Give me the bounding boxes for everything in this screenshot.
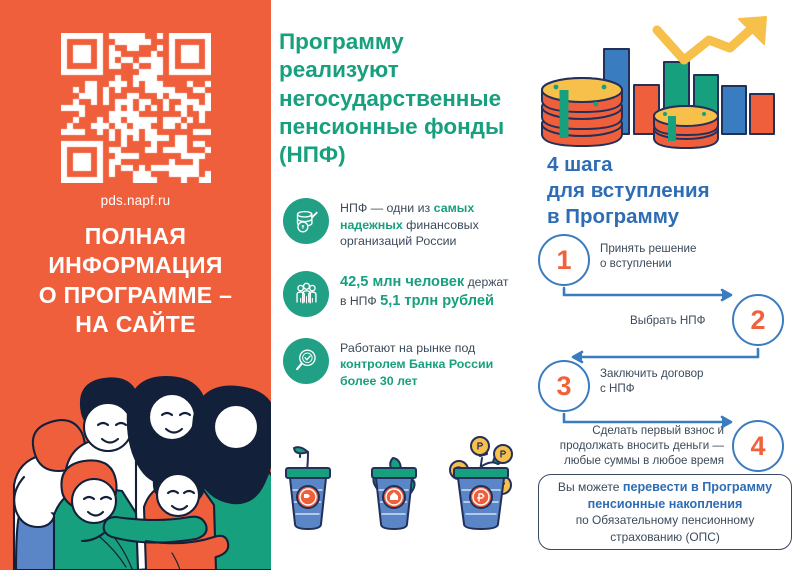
- step-label-2: Выбрать НПФ: [630, 314, 705, 329]
- note-plain: Вы можете: [558, 480, 623, 494]
- three-growing-money-plants-in-pots: [282, 398, 532, 563]
- magnifier-check-icon: [283, 338, 329, 384]
- step-number-4[interactable]: 4: [732, 420, 784, 472]
- middle-heading-line-1: Программу: [279, 28, 529, 56]
- step-label-4-line-3: любые суммы в любое время: [546, 454, 724, 469]
- step-label-1-line-1: Принять решение: [600, 242, 696, 257]
- step-label-4-line-2: продолжать вносить деньги —: [546, 439, 724, 454]
- chart-bar-6: [750, 94, 774, 134]
- fact-item-supervision: Работают на рынке под контролем Банка Ро…: [283, 338, 533, 390]
- pot-sprout: [372, 458, 416, 529]
- transfer-note-box: Вы можете перевести в Программу пенсионн…: [538, 474, 792, 550]
- qr-code[interactable]: [61, 33, 211, 183]
- fact-bold-supervision: контролем Банка России более 30 лет: [340, 357, 493, 388]
- pot-money-tree: [450, 437, 512, 529]
- coin-stack-left: [542, 78, 622, 146]
- site-url[interactable]: pds.napf.ru: [0, 193, 271, 208]
- step-number-2[interactable]: 2: [732, 294, 784, 346]
- pot-seedling: [286, 447, 330, 529]
- middle-heading: Программу реализуют негосударственные пе…: [279, 28, 529, 170]
- middle-heading-line-2: реализуют: [279, 56, 529, 84]
- rising-trend-arrow: [657, 17, 766, 60]
- fact-item-people-count: 42,5 млн человек держат в НПФ 5,1 трлн р…: [283, 271, 533, 317]
- arrow-step-1-to-2: [564, 288, 730, 295]
- middle-heading-line-5: (НПФ): [279, 141, 529, 169]
- fact-prefix: НПФ — одни из: [340, 201, 434, 215]
- page-title-line-3: О ПРОГРАММЕ –: [0, 281, 271, 310]
- note-line-2: пенсионные накопления: [588, 496, 743, 512]
- coin-stack-check-icon: [283, 198, 329, 244]
- fact-line2-prefix: в НПФ: [340, 294, 380, 308]
- page-title-line-1: ПОЛНАЯ: [0, 222, 271, 251]
- middle-heading-line-4: пенсионные фонды: [279, 113, 529, 141]
- step-label-1: Принять решение о вступлении: [600, 242, 696, 272]
- bar-chart-with-coins-and-rising-arrow: [534, 12, 796, 152]
- group-hug-people-illustration: [0, 365, 271, 570]
- step-label-4: Сделать первый взнос и продолжать вносит…: [546, 424, 724, 468]
- fact-text-reliability: НПФ — одни из самых надежных финансовых …: [340, 198, 533, 250]
- fact-bold-people: 42,5 млн человек: [340, 274, 464, 290]
- page-title-line-2: ИНФОРМАЦИЯ: [0, 251, 271, 280]
- step-label-2-line-1: Выбрать НПФ: [630, 314, 705, 329]
- step-label-3-line-2: с НПФ: [600, 382, 704, 397]
- steps-flow: 1 Принять решение о вступлении 2 Выбрать…: [534, 232, 796, 462]
- step-number-3[interactable]: 3: [538, 360, 590, 412]
- step-label-1-line-2: о вступлении: [600, 257, 696, 272]
- steps-heading-line-3: в Программу: [547, 204, 797, 230]
- middle-heading-line-3: негосударственные: [279, 85, 529, 113]
- fact-mid-people: держат: [464, 275, 508, 289]
- qr-code-canvas[interactable]: [61, 33, 211, 183]
- page-title-line-4: НА САЙТЕ: [0, 310, 271, 339]
- coin-stack-right: [654, 106, 718, 148]
- people-group-icon: [283, 271, 329, 317]
- note-line-4: страхованию (ОПС): [610, 530, 720, 545]
- note-line-1: Вы можете перевести в Программу: [558, 479, 772, 496]
- fact-text-people-count: 42,5 млн человек держат в НПФ 5,1 трлн р…: [340, 271, 509, 312]
- chart-bar-5: [722, 86, 746, 134]
- note-bold-1: перевести в Программу: [623, 480, 772, 494]
- page-title: ПОЛНАЯ ИНФОРМАЦИЯ О ПРОГРАММЕ – НА САЙТЕ: [0, 222, 271, 340]
- step-label-4-line-1: Сделать первый взнос и: [546, 424, 724, 439]
- arrow-step-2-to-3: [574, 349, 758, 357]
- steps-heading: 4 шага для вступления в Программу: [547, 152, 797, 230]
- step-number-1[interactable]: 1: [538, 234, 590, 286]
- fact-bold-rubles: 5,1 трлн рублей: [380, 293, 494, 309]
- fact-prefix-supervision: Работают на рынке под: [340, 341, 475, 355]
- steps-heading-line-1: 4 шага: [547, 152, 797, 178]
- step-label-3-line-1: Заключить договор: [600, 367, 704, 382]
- fact-item-reliability: НПФ — одни из самых надежных финансовых …: [283, 198, 533, 250]
- facts-list: НПФ — одни из самых надежных финансовых …: [283, 198, 533, 410]
- arrow-step-3-to-4: [564, 414, 730, 422]
- steps-heading-line-2: для вступления: [547, 178, 797, 204]
- infographic-page: pds.napf.ru ПОЛНАЯ ИНФОРМАЦИЯ О ПРОГРАММ…: [0, 0, 800, 570]
- step-label-3: Заключить договор с НПФ: [600, 367, 704, 397]
- note-line-3: по Обязательному пенсионному: [576, 513, 755, 528]
- left-orange-panel: pds.napf.ru ПОЛНАЯ ИНФОРМАЦИЯ О ПРОГРАММ…: [0, 0, 271, 570]
- fact-text-supervision: Работают на рынке под контролем Банка Ро…: [340, 338, 533, 390]
